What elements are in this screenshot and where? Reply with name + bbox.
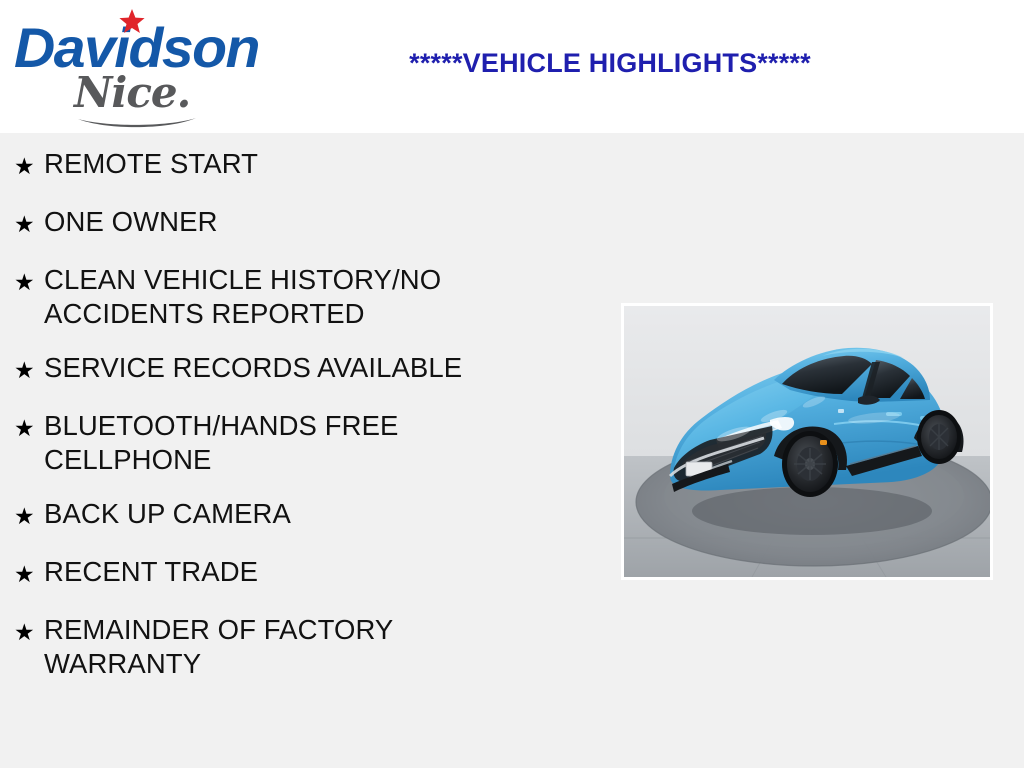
list-item: ★ ONE OWNER (0, 205, 560, 243)
list-item-label: SERVICE RECORDS AVAILABLE (44, 351, 514, 385)
star-bullet-icon: ★ (14, 351, 44, 389)
star-bullet-icon: ★ (14, 555, 44, 593)
dealer-logo[interactable]: Davidson Nice. (14, 6, 264, 126)
star-bullet-icon: ★ (14, 147, 44, 185)
vehicle-photo[interactable] (621, 303, 993, 580)
star-bullet-icon: ★ (14, 497, 44, 535)
vehicle-photo-image (624, 306, 990, 577)
star-bullet-icon: ★ (14, 205, 44, 243)
page-header: Davidson Nice. *****VEHICLE HIGHLIGHTS**… (0, 0, 1024, 133)
list-item-label: CLEAN VEHICLE HISTORY/NO ACCIDENTS REPOR… (44, 263, 514, 331)
list-item-label: ONE OWNER (44, 205, 514, 239)
list-item: ★ REMOTE START (0, 147, 560, 185)
list-item: ★ BACK UP CAMERA (0, 497, 560, 535)
list-item: ★ SERVICE RECORDS AVAILABLE (0, 351, 560, 389)
list-item: ★ REMAINDER OF FACTORY WARRANTY (0, 613, 560, 681)
list-item: ★ BLUETOOTH/HANDS FREE CELLPHONE (0, 409, 560, 477)
vehicle-highlights-page: Davidson Nice. *****VEHICLE HIGHLIGHTS**… (0, 0, 1024, 768)
star-bullet-icon: ★ (14, 409, 44, 447)
vehicle-highlights-list: ★ REMOTE START ★ ONE OWNER ★ CLEAN VEHIC… (0, 133, 560, 701)
list-item-label: BLUETOOTH/HANDS FREE CELLPHONE (44, 409, 514, 477)
list-item: ★ CLEAN VEHICLE HISTORY/NO ACCIDENTS REP… (0, 263, 560, 331)
list-item-label: REMOTE START (44, 147, 514, 181)
list-item-label: RECENT TRADE (44, 555, 514, 589)
page-title: *****VEHICLE HIGHLIGHTS***** (300, 48, 920, 79)
list-item-label: BACK UP CAMERA (44, 497, 514, 531)
star-bullet-icon: ★ (14, 613, 44, 651)
logo-secondary-text: Nice. (74, 72, 190, 114)
star-icon (118, 8, 146, 36)
star-bullet-icon: ★ (14, 263, 44, 301)
logo-underline-swoosh (76, 116, 198, 128)
list-item: ★ RECENT TRADE (0, 555, 560, 593)
list-item-label: REMAINDER OF FACTORY WARRANTY (44, 613, 514, 681)
